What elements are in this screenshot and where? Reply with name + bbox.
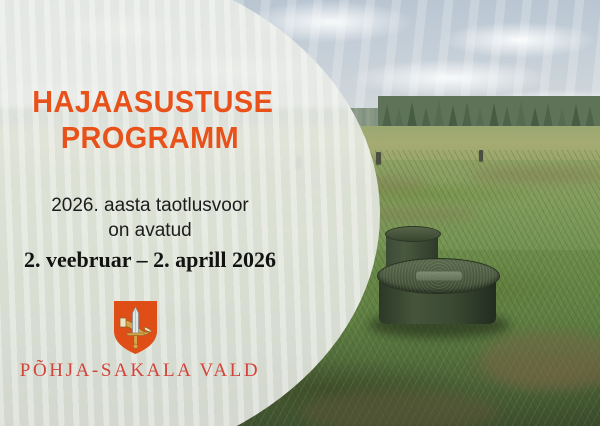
poster-title: HAJAASUSTUSE PROGRAMM [11, 84, 290, 156]
septic-tank-large-lid [377, 258, 500, 294]
dirt-patch [470, 168, 600, 182]
subtitle-line-2: on avatud [0, 218, 300, 243]
title-line-1: HAJAASUSTUSE [11, 84, 290, 120]
panel-content: HAJAASUSTUSE PROGRAMM 2026. aasta taotlu… [0, 0, 300, 426]
dirt-patch [300, 390, 500, 426]
application-period: 2. veebruar – 2. aprill 2026 [0, 246, 300, 273]
subtitle-line-1: 2026. aasta taotlusvoor [0, 193, 300, 218]
field-post [376, 152, 381, 164]
municipality-name: PÕHJA-SAKALA VALD [0, 360, 280, 382]
field-post [479, 150, 483, 161]
poster-announcement: HAJAASUSTUSE PROGRAMM 2026. aasta taotlu… [0, 0, 600, 426]
coat-of-arms-icon [114, 301, 157, 354]
poster-subtitle: 2026. aasta taotlusvoor on avatud 2. vee… [0, 193, 300, 273]
title-line-2: PROGRAMM [11, 120, 290, 156]
septic-tank-small-lid [385, 226, 441, 242]
